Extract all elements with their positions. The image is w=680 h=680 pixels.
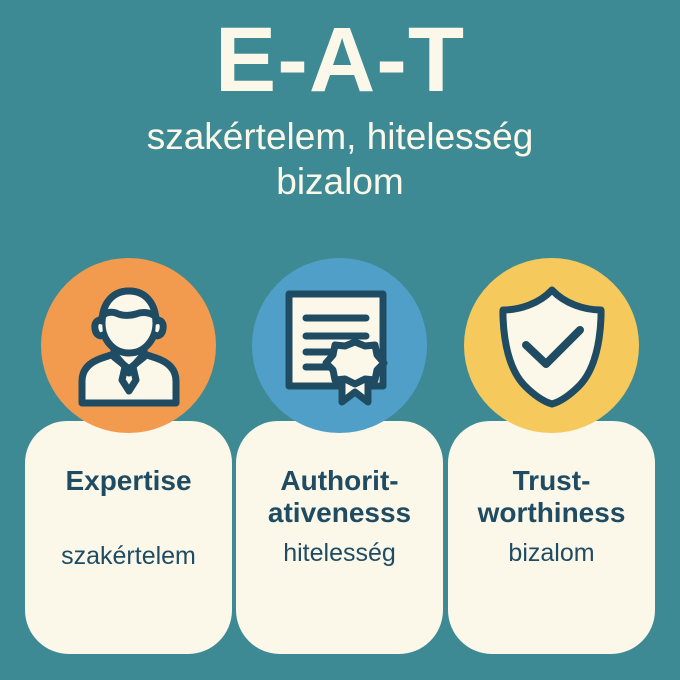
icon-circle-trustworthiness bbox=[464, 258, 639, 433]
shield-check-icon bbox=[491, 282, 613, 410]
card-title: Trust- worthiness bbox=[454, 465, 649, 530]
person-suit-icon bbox=[64, 281, 194, 411]
card-authoritativeness: Authorit- ativenesss hitelesség bbox=[236, 421, 443, 654]
card-title: Expertise bbox=[31, 465, 226, 497]
icon-circle-authoritativeness bbox=[252, 258, 427, 433]
card-title: Authorit- ativenesss bbox=[242, 465, 437, 530]
card-authoritativeness-content: Authorit- ativenesss hitelesség bbox=[236, 465, 443, 568]
page-title: E-A-T bbox=[0, 0, 680, 108]
pillar-columns: Expertise szakértelem bbox=[0, 255, 680, 680]
pillar-expertise: Expertise szakértelem bbox=[23, 255, 234, 655]
icon-circle-expertise bbox=[41, 258, 216, 433]
card-subtitle: hitelesség bbox=[242, 538, 437, 568]
subtitle-line-1: szakértelem, hitelesség bbox=[0, 114, 680, 159]
header: E-A-T szakértelem, hitelesség bizalom bbox=[0, 0, 680, 204]
card-trustworthiness-content: Trust- worthiness bizalom bbox=[448, 465, 655, 568]
eat-infographic: E-A-T szakértelem, hitelesség bizalom Ex… bbox=[0, 0, 680, 680]
subtitle-line-2: bizalom bbox=[0, 159, 680, 204]
card-subtitle: bizalom bbox=[454, 538, 649, 568]
card-trustworthiness: Trust- worthiness bizalom bbox=[448, 421, 655, 654]
card-subtitle: szakértelem bbox=[31, 541, 226, 571]
certificate-seal-icon bbox=[276, 282, 404, 410]
pillar-authoritativeness: Authorit- ativenesss hitelesség bbox=[234, 255, 445, 655]
card-expertise: Expertise szakértelem bbox=[25, 421, 232, 654]
card-expertise-content: Expertise szakértelem bbox=[25, 465, 232, 571]
pillar-trustworthiness: Trust- worthiness bizalom bbox=[446, 255, 657, 655]
subtitle: szakértelem, hitelesség bizalom bbox=[0, 108, 680, 204]
